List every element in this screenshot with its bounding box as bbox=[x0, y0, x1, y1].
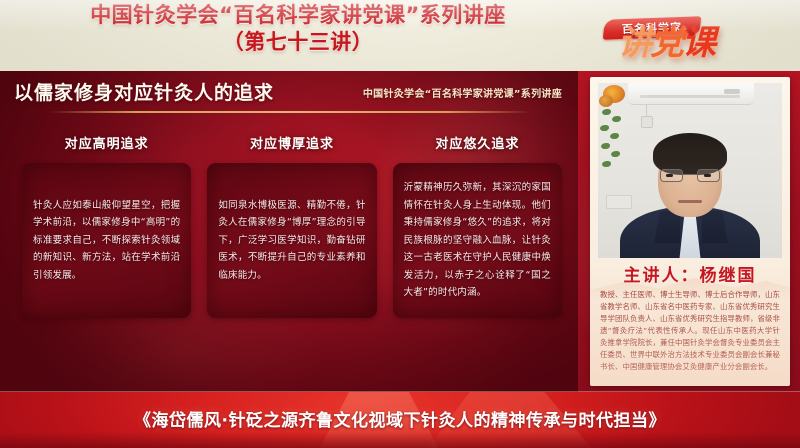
slide-subheading: 中国针灸学会“百名科学家讲党课”系列讲座 bbox=[363, 85, 562, 100]
footer-banner: 《海岱儒风·针砭之源齐鲁文化视域下针灸人的精神传承与时代担当》 bbox=[0, 392, 800, 448]
speaker-bio: 教授、主任医师、博士生导师、博士后合作导师，山东省教学名师、山东省名中医药专家、… bbox=[600, 289, 780, 373]
speaker-name: 主讲人：杨继国 bbox=[590, 261, 790, 286]
wall-plug bbox=[641, 116, 653, 128]
content-card: 对应悠久追求 沂蒙精神历久弥新，其深沉的家国情怀在针灸人身上生动体现。他们秉持儒… bbox=[393, 133, 562, 318]
card-text: 如同泉水博极医源、精勤不倦，针灸人在儒家修身“博厚”理念的引导下，广泛学习医学知… bbox=[218, 197, 365, 285]
card-text: 沂蒙精神历久弥新，其深沉的家国情怀在针灸人身上生动体现。他们秉持儒家修身“悠久”… bbox=[404, 179, 551, 302]
leaf-icon bbox=[602, 161, 611, 167]
card-body: 沂蒙精神历久弥新，其深沉的家国情怀在针灸人身上生动体现。他们秉持儒家修身“悠久”… bbox=[393, 163, 562, 318]
speaker-mouth bbox=[678, 200, 702, 203]
leaf-icon bbox=[611, 151, 620, 157]
content-card: 对应博厚追求 如同泉水博极医源、精勤不倦，针灸人在儒家修身“博厚”理念的引导下，… bbox=[207, 133, 376, 318]
wall-socket bbox=[606, 195, 632, 209]
banner-shadow bbox=[0, 432, 800, 448]
leaf-icon bbox=[602, 109, 611, 115]
leaf-icon bbox=[601, 143, 610, 149]
content-card: 对应高明追求 针灸人应如泰山般仰望星空，把握学术前沿，以儒家修身中“高明”的标准… bbox=[22, 133, 191, 318]
gold-divider bbox=[48, 111, 532, 113]
speaker-video-feed[interactable] bbox=[598, 83, 782, 258]
flower-icon bbox=[599, 95, 613, 107]
card-title: 对应博厚追求 bbox=[207, 133, 376, 152]
decorative-plant bbox=[598, 83, 632, 179]
card-body: 如同泉水博极医源、精勤不倦，针灸人在儒家修身“博厚”理念的引导下，广泛学习医学知… bbox=[207, 163, 376, 318]
header-band: 中国针灸学会“百名科学家讲党课”系列讲座 （第七十三讲） 百名科学家 讲党课 bbox=[0, 0, 800, 71]
slide-header: 以儒家修身对应针灸人的追求 中国针灸学会“百名科学家讲党课”系列讲座 bbox=[0, 71, 578, 113]
card-body: 针灸人应如泰山般仰望星空，把握学术前沿，以儒家修身中“高明”的标准要求自己，不断… bbox=[22, 163, 191, 318]
card-title: 对应悠久追求 bbox=[393, 133, 562, 152]
logo-char-dang: 党 bbox=[650, 23, 682, 63]
card-text: 针灸人应如泰山般仰望星空，把握学术前沿，以儒家修身中“高明”的标准要求自己，不断… bbox=[33, 197, 180, 285]
program-logo: 百名科学家 讲党课 bbox=[596, 4, 792, 68]
speaker-eye-right bbox=[704, 174, 711, 177]
speaker-eye-left bbox=[666, 174, 673, 177]
slide-area: 以儒家修身对应针灸人的追求 中国针灸学会“百名科学家讲党课”系列讲座 对应高明追… bbox=[0, 71, 578, 392]
header-title-line-1: 中国针灸学会“百名科学家讲党课”系列讲座 bbox=[0, 4, 596, 27]
card-title: 对应高明追求 bbox=[22, 133, 191, 152]
slide-heading: 以儒家修身对应针灸人的追求 bbox=[14, 78, 274, 105]
card-row: 对应高明追求 针灸人应如泰山般仰望星空，把握学术前沿，以儒家修身中“高明”的标准… bbox=[22, 133, 562, 363]
logo-char-jiang: 讲 bbox=[618, 23, 650, 63]
header-title-group: 中国针灸学会“百名科学家讲党课”系列讲座 （第七十三讲） bbox=[0, 4, 596, 53]
leaf-icon bbox=[612, 116, 621, 122]
leaf-icon bbox=[600, 125, 609, 131]
ac-display bbox=[724, 89, 740, 94]
broadcast-slide: 中国针灸学会“百名科学家讲党课”系列讲座 （第七十三讲） 百名科学家 讲党课 以… bbox=[0, 0, 800, 448]
speaker-card: 主讲人：杨继国 教授、主任医师、博士生导师、博士后合作导师，山东省教学名师、山东… bbox=[590, 77, 790, 386]
leaf-icon bbox=[610, 133, 619, 139]
glasses-bridge bbox=[683, 174, 697, 175]
air-conditioner bbox=[628, 83, 754, 105]
logo-char-ke: 课 bbox=[682, 23, 714, 63]
ac-vent bbox=[640, 95, 740, 98]
logo-wordmark: 讲党课 bbox=[618, 20, 794, 66]
speaker-panel: 主讲人：杨继国 教授、主任医师、博士生导师、博士后合作导师，山东省教学名师、山东… bbox=[578, 71, 800, 392]
header-title-line-2: （第七十三讲） bbox=[0, 31, 596, 54]
lecture-title: 《海岱儒风·针砭之源齐鲁文化视域下针灸人的精神传承与时代担当》 bbox=[0, 406, 800, 431]
